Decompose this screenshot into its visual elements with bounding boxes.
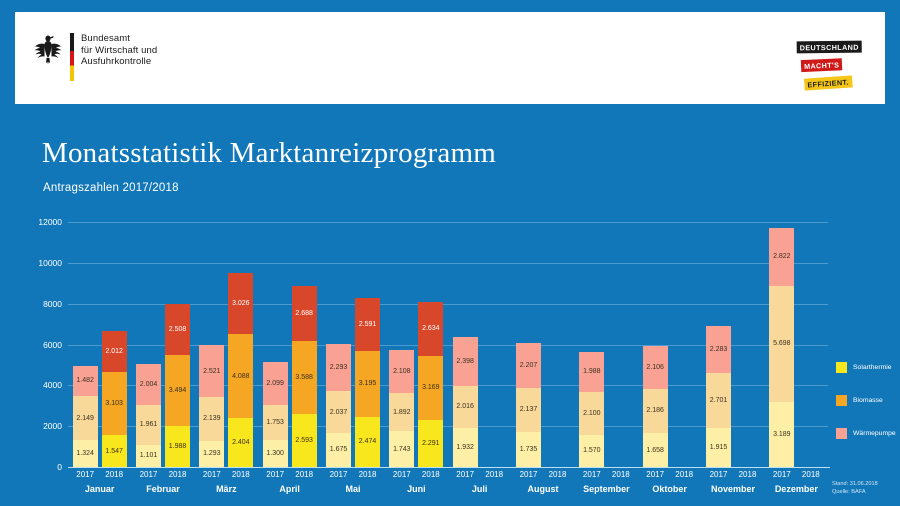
bar-januar-2017[interactable]: 1.4822.1491.324 — [73, 366, 98, 467]
bar-value-label: 2.508 — [169, 326, 187, 333]
bar-segment-solarthermie: 1.658 — [643, 433, 668, 467]
bar-value-label: 3.103 — [105, 400, 123, 407]
x-axis-year-label: 2018 — [416, 470, 446, 479]
bar-februar-2018[interactable]: 2.5083.4941.988 — [165, 304, 190, 467]
bar-segment-solarthermie: 2.291 — [418, 420, 443, 467]
bar-segment-solarthermie: 1.300 — [263, 440, 288, 467]
bar-segment-wärmepumpe: 1.988 — [579, 352, 604, 393]
bar-segment-solarthermie: 1.915 — [706, 428, 731, 467]
bar-segment-solarthermie: 1.293 — [199, 441, 224, 467]
x-axis-month-label: Februar — [131, 484, 195, 494]
bar-oktober-2017[interactable]: 2.1062.1861.658 — [643, 346, 668, 467]
x-axis-month-label: November — [701, 484, 765, 494]
bar-segment-solarthermie: 1.988 — [165, 426, 190, 467]
bar-value-label: 2.149 — [76, 415, 94, 422]
bar-segment-solarthermie: 1.570 — [579, 435, 604, 467]
bar-value-label: 1.988 — [169, 443, 187, 450]
poster-page: Bundesamt für Wirtschaft und Ausfuhrkont… — [0, 0, 900, 506]
bar-segment-solarthermie: 1.324 — [73, 440, 98, 467]
bar-value-label: 2.701 — [710, 397, 728, 404]
bar-value-label: 1.324 — [76, 450, 94, 457]
bar-august-2017[interactable]: 2.2072.1371.735 — [516, 343, 541, 467]
bar-value-label: 2.283 — [710, 346, 728, 353]
source-line-1: Stand: 31.06.2018 — [832, 481, 892, 489]
legend-item-biomasse[interactable]: Biomasse — [836, 395, 900, 406]
bar-segment-biomasse: 5.698 — [769, 286, 794, 402]
bar-juni-2018[interactable]: 2.6343.1692.291 — [418, 302, 443, 467]
x-axis-month-label: März — [194, 484, 258, 494]
x-axis-year-label: 2018 — [163, 470, 193, 479]
x-axis-year-label: 2018 — [353, 470, 383, 479]
bar-januar-2018[interactable]: 2.0123.1031.547 — [102, 331, 127, 467]
bar-segment-wärmepumpe: 2.508 — [165, 304, 190, 355]
bar-segment-wärmepumpe: 2.012 — [102, 331, 127, 372]
bar-segment-wärmepumpe: 3.026 — [228, 273, 253, 335]
y-axis-ticks: 020004000600080001000012000 — [10, 222, 62, 467]
bar-segment-solarthermie: 3.189 — [769, 402, 794, 467]
bar-mai-2017[interactable]: 2.2932.0371.675 — [326, 344, 351, 467]
bar-value-label: 2.207 — [520, 362, 538, 369]
bar-segment-biomasse: 3.103 — [102, 372, 127, 435]
bar-segment-wärmepumpe: 2.283 — [706, 326, 731, 373]
bar-segment-solarthermie: 1.932 — [453, 428, 478, 467]
bar-value-label: 1.961 — [140, 421, 158, 428]
bar-märz-2018[interactable]: 3.0264.0882.404 — [228, 273, 253, 467]
y-axis-tick-label: 2000 — [12, 421, 62, 431]
bar-value-label: 3.588 — [295, 374, 313, 381]
legend-item-solarthermie[interactable]: Solarthermie — [836, 362, 900, 373]
x-axis-line — [68, 467, 830, 468]
x-axis-month-label: August — [511, 484, 575, 494]
bar-value-label: 1.101 — [140, 452, 158, 459]
bar-value-label: 2.521 — [203, 368, 221, 375]
bar-segment-biomasse: 2.186 — [643, 389, 668, 434]
bar-segment-wärmepumpe: 2.822 — [769, 228, 794, 286]
x-axis-month-label: Juni — [384, 484, 448, 494]
bar-segment-wärmepumpe: 2.108 — [389, 350, 414, 393]
x-axis-month-label: Mai — [321, 484, 385, 494]
bar-value-label: 2.099 — [266, 380, 284, 387]
x-axis-month-label: Januar — [68, 484, 132, 494]
bar-segment-solarthermie: 2.474 — [355, 417, 380, 468]
x-axis-year-label: 2018 — [733, 470, 763, 479]
bar-value-label: 1.753 — [266, 419, 284, 426]
bar-value-label: 1.675 — [330, 446, 348, 453]
bar-value-label: 2.106 — [646, 364, 664, 371]
bar-segment-biomasse: 1.892 — [389, 393, 414, 432]
bar-value-label: 2.291 — [422, 440, 440, 447]
bar-value-label: 2.293 — [330, 364, 348, 371]
bar-segment-solarthermie: 1.743 — [389, 431, 414, 467]
bar-value-label: 1.547 — [105, 448, 123, 455]
bar-value-label: 1.570 — [583, 447, 601, 454]
bar-value-label: 2.137 — [520, 406, 538, 413]
source-line-2: Quelle: BAFA — [832, 489, 892, 497]
bar-value-label: 2.398 — [456, 358, 474, 365]
bar-value-label: 1.915 — [710, 444, 728, 451]
x-axis-year-label: 2018 — [543, 470, 573, 479]
chart-area: 020004000600080001000012000 1.4822.1491.… — [0, 0, 900, 506]
bar-value-label: 2.186 — [646, 407, 664, 414]
bar-segment-wärmepumpe: 1.482 — [73, 366, 98, 396]
bar-segment-solarthermie: 1.675 — [326, 433, 351, 467]
legend-swatch-icon — [836, 362, 847, 373]
bar-februar-2017[interactable]: 2.0041.9611.101 — [136, 364, 161, 467]
bar-september-2017[interactable]: 1.9882.1001.570 — [579, 352, 604, 468]
x-axis-year-label: 2017 — [577, 470, 607, 479]
bar-value-label: 2.593 — [295, 437, 313, 444]
bar-segment-wärmepumpe: 2.591 — [355, 298, 380, 351]
x-axis-year-label: 2017 — [514, 470, 544, 479]
bar-segment-biomasse: 1.961 — [136, 405, 161, 445]
bar-value-label: 1.892 — [393, 409, 411, 416]
bar-value-label: 1.482 — [76, 377, 94, 384]
x-axis-year-label: 2017 — [640, 470, 670, 479]
legend-item-wärmepumpe[interactable]: Wärmepumpe — [836, 428, 900, 439]
legend-label: Biomasse — [853, 397, 883, 404]
bar-segment-wärmepumpe: 2.099 — [263, 362, 288, 405]
bar-segment-wärmepumpe: 2.207 — [516, 343, 541, 388]
bar-april-2017[interactable]: 2.0991.7531.300 — [263, 362, 288, 467]
bar-value-label: 1.988 — [583, 368, 601, 375]
bar-series-container: 1.4822.1491.3242.0123.1031.5472.0041.961… — [68, 222, 828, 467]
bar-segment-biomasse: 2.149 — [73, 396, 98, 440]
x-axis-year-label: 2018 — [479, 470, 509, 479]
y-axis-tick-label: 8000 — [12, 299, 62, 309]
bar-segment-solarthermie: 2.593 — [292, 414, 317, 467]
y-axis-tick-label: 6000 — [12, 340, 62, 350]
bar-value-label: 1.735 — [520, 446, 538, 453]
bar-value-label: 2.688 — [295, 310, 313, 317]
x-axis-year-label: 2017 — [767, 470, 797, 479]
bar-segment-biomasse: 1.753 — [263, 405, 288, 441]
x-axis-year-label: 2018 — [289, 470, 319, 479]
source-note: Stand: 31.06.2018 Quelle: BAFA — [832, 481, 892, 496]
bar-segment-solarthermie: 1.735 — [516, 432, 541, 467]
bar-juli-2017[interactable]: 2.3982.0161.932 — [453, 337, 478, 467]
x-axis-year-label: 2017 — [260, 470, 290, 479]
bar-value-label: 2.474 — [359, 438, 377, 445]
bar-value-label: 3.494 — [169, 387, 187, 394]
x-axis-year-label: 2018 — [796, 470, 826, 479]
x-axis-year-label: 2017 — [324, 470, 354, 479]
x-axis-year-label: 2018 — [669, 470, 699, 479]
bar-segment-wärmepumpe: 2.688 — [292, 286, 317, 341]
x-axis-year-label: 2018 — [606, 470, 636, 479]
bar-segment-biomasse: 2.701 — [706, 373, 731, 428]
bar-value-label: 1.743 — [393, 446, 411, 453]
bar-segment-biomasse: 3.169 — [418, 356, 443, 421]
bar-segment-wärmepumpe: 2.293 — [326, 344, 351, 391]
bar-value-label: 2.037 — [330, 409, 348, 416]
x-axis-month-label: Juli — [448, 484, 512, 494]
x-axis-month-label: Dezember — [764, 484, 828, 494]
legend-label: Wärmepumpe — [853, 430, 896, 437]
x-axis-year-label: 2018 — [226, 470, 256, 479]
bar-segment-biomasse: 2.139 — [199, 397, 224, 441]
y-axis-tick-label: 0 — [12, 462, 62, 472]
chart-legend: SolarthermieBiomasseWärmepumpe — [836, 362, 900, 461]
x-axis-year-label: 2017 — [197, 470, 227, 479]
bar-segment-solarthermie: 2.404 — [228, 418, 253, 467]
bar-dezember-2017[interactable]: 2.8225.6983.189 — [769, 228, 794, 467]
bar-segment-wärmepumpe: 2.398 — [453, 337, 478, 386]
bar-value-label: 2.404 — [232, 439, 250, 446]
bar-segment-biomasse: 4.088 — [228, 334, 253, 417]
bar-value-label: 2.591 — [359, 321, 377, 328]
x-axis-month-label: Oktober — [638, 484, 702, 494]
bar-juni-2017[interactable]: 2.1081.8921.743 — [389, 350, 414, 467]
bar-segment-wärmepumpe: 2.521 — [199, 345, 224, 396]
bar-value-label: 1.658 — [646, 447, 664, 454]
bar-segment-biomasse: 2.037 — [326, 391, 351, 433]
x-axis-labels: 20172018Januar20172018Februar20172018Mär… — [68, 470, 828, 506]
x-axis-year-label: 2017 — [450, 470, 480, 479]
bar-value-label: 2.016 — [456, 403, 474, 410]
x-axis-year-label: 2017 — [704, 470, 734, 479]
bar-value-label: 3.189 — [773, 431, 791, 438]
bar-segment-biomasse: 2.100 — [579, 392, 604, 435]
legend-swatch-icon — [836, 428, 847, 439]
y-axis-tick-label: 12000 — [12, 217, 62, 227]
x-axis-month-label: September — [574, 484, 638, 494]
bar-segment-wärmepumpe: 2.106 — [643, 346, 668, 389]
y-axis-tick-label: 10000 — [12, 258, 62, 268]
legend-label: Solarthermie — [853, 364, 892, 371]
y-axis-tick-label: 4000 — [12, 380, 62, 390]
bar-value-label: 3.026 — [232, 300, 250, 307]
bar-value-label: 2.012 — [105, 348, 123, 355]
bar-value-label: 1.300 — [266, 450, 284, 457]
bar-november-2017[interactable]: 2.2832.7011.915 — [706, 326, 731, 467]
bar-segment-wärmepumpe: 2.634 — [418, 302, 443, 356]
bar-segment-biomasse: 2.016 — [453, 386, 478, 427]
x-axis-year-label: 2017 — [134, 470, 164, 479]
bar-segment-solarthermie: 1.547 — [102, 435, 127, 467]
bar-value-label: 5.698 — [773, 340, 791, 347]
bar-value-label: 1.932 — [456, 444, 474, 451]
bar-value-label: 2.108 — [393, 368, 411, 375]
bar-value-label: 3.169 — [422, 384, 440, 391]
bar-segment-solarthermie: 1.101 — [136, 445, 161, 467]
bar-april-2018[interactable]: 2.6883.5882.593 — [292, 286, 317, 467]
bar-märz-2017[interactable]: 2.5212.1391.293 — [199, 345, 224, 467]
bar-value-label: 2.822 — [773, 253, 791, 260]
x-axis-year-label: 2017 — [70, 470, 100, 479]
bar-value-label: 2.139 — [203, 415, 221, 422]
x-axis-year-label: 2018 — [99, 470, 129, 479]
x-axis-month-label: April — [258, 484, 322, 494]
bar-value-label: 2.634 — [422, 325, 440, 332]
bar-mai-2018[interactable]: 2.5913.1952.474 — [355, 298, 380, 467]
bar-segment-biomasse: 3.588 — [292, 341, 317, 414]
bar-segment-biomasse: 3.494 — [165, 355, 190, 426]
legend-swatch-icon — [836, 395, 847, 406]
bar-segment-biomasse: 3.195 — [355, 351, 380, 416]
bar-value-label: 2.100 — [583, 410, 601, 417]
bar-value-label: 1.293 — [203, 450, 221, 457]
bar-value-label: 4.088 — [232, 373, 250, 380]
bar-value-label: 3.195 — [359, 380, 377, 387]
bar-value-label: 2.004 — [140, 381, 158, 388]
x-axis-year-label: 2017 — [387, 470, 417, 479]
bar-segment-wärmepumpe: 2.004 — [136, 364, 161, 405]
bar-segment-biomasse: 2.137 — [516, 388, 541, 432]
